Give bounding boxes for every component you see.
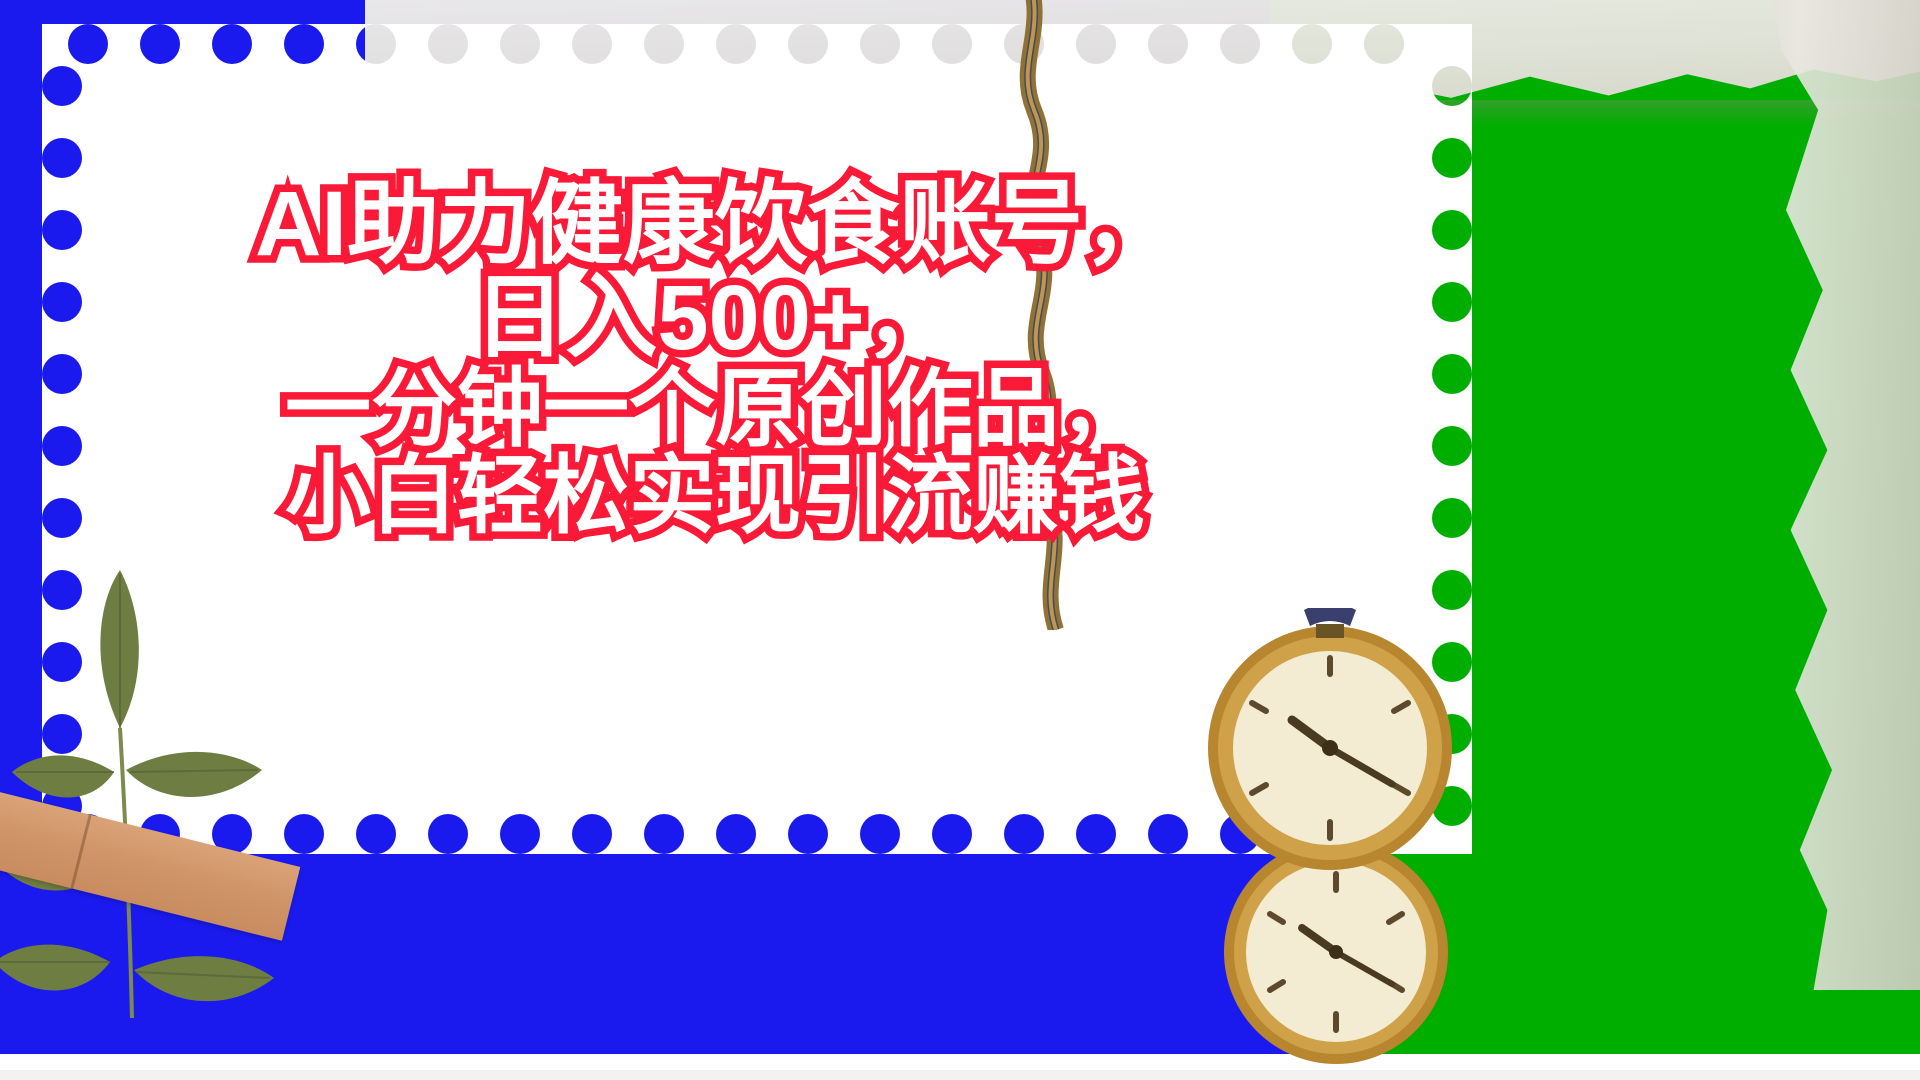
bottom-paper-edge — [0, 1070, 1920, 1080]
cover-image-canvas: AI助力健康饮食账号， 日入500+， 一分钟一个原创作品， 小白轻松实现引流赚… — [0, 0, 1920, 1080]
leaf-sprig-icon — [0, 470, 400, 1030]
vintage-pocket-watch-icon — [1196, 608, 1464, 876]
leaf-sprig-group — [0, 470, 400, 1030]
metal-chain-icon — [930, 0, 1150, 630]
